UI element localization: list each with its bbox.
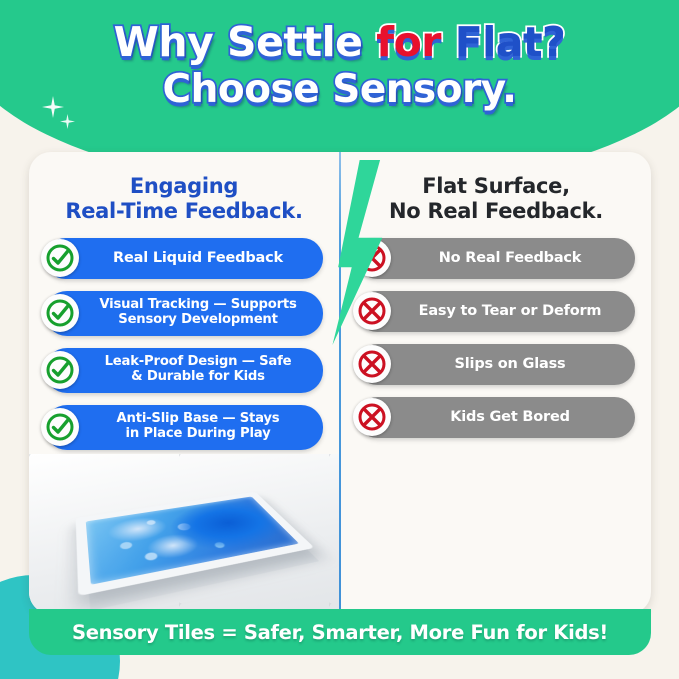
- list-item[interactable]: Real Liquid Feedback: [45, 238, 323, 279]
- list-item-line-1: Leak-Proof Design — Safe: [83, 355, 313, 370]
- list-item-line-1: Visual Tracking — Supports: [83, 298, 313, 313]
- left-panel: Engaging Real-Time Feedback. Real Liquid…: [29, 152, 339, 614]
- list-item[interactable]: Visual Tracking — Supports Sensory Devel…: [45, 291, 323, 336]
- check-circle-icon: [41, 408, 79, 446]
- check-circle-icon: [41, 351, 79, 389]
- list-item-line-1: Slips on Glass: [395, 356, 625, 372]
- bottom-banner-text: Sensory Tiles = Safer, Smarter, More Fun…: [72, 621, 608, 644]
- right-heading-line-1: Flat Surface,: [341, 174, 651, 199]
- x-circle-icon: [353, 398, 391, 436]
- list-item-line-1: Kids Get Bored: [395, 409, 625, 425]
- list-item-line-2: Sensory Development: [83, 313, 313, 328]
- list-item[interactable]: Slips on Glass: [357, 344, 635, 385]
- product-photo-sensory-tile: [29, 454, 339, 614]
- list-item[interactable]: Kids Get Bored: [357, 397, 635, 438]
- list-item-label: Leak-Proof Design — Safe & Durable for K…: [83, 355, 313, 385]
- list-item[interactable]: Easy to Tear or Deform: [357, 291, 635, 332]
- list-item-line-1: Anti-Slip Base — Stays: [83, 412, 313, 427]
- x-circle-icon: [353, 292, 391, 330]
- list-item-label: Real Liquid Feedback: [83, 250, 313, 266]
- headline-part-1: Why Settle: [114, 18, 377, 66]
- list-item-label: Kids Get Bored: [395, 409, 625, 425]
- list-item-label: Anti-Slip Base — Stays in Place During P…: [83, 412, 313, 442]
- comparison-card: Engaging Real-Time Feedback. Real Liquid…: [29, 152, 651, 614]
- headline-line-2: Choose Sensory.: [163, 67, 517, 112]
- right-heading-line-2: No Real Feedback.: [341, 199, 651, 224]
- list-item-line-1: Easy to Tear or Deform: [395, 303, 625, 319]
- left-heading-line-2: Real-Time Feedback.: [29, 199, 339, 224]
- right-panel-heading: Flat Surface, No Real Feedback.: [341, 152, 651, 224]
- list-item[interactable]: Anti-Slip Base — Stays in Place During P…: [45, 405, 323, 450]
- infographic-canvas: Why Settle for Flat? Choose Sensory. Eng…: [0, 0, 679, 679]
- list-item-line-2: in Place During Play: [83, 427, 313, 442]
- list-item-label: Slips on Glass: [395, 356, 625, 372]
- list-item-label: Easy to Tear or Deform: [395, 303, 625, 319]
- list-item-line-1: No Real Feedback: [395, 250, 625, 266]
- list-item-label: No Real Feedback: [395, 250, 625, 266]
- list-item-label: Visual Tracking — Supports Sensory Devel…: [83, 298, 313, 328]
- headline-part-3: Flat?: [455, 18, 566, 66]
- right-panel: Flat Surface, No Real Feedback. No Real …: [341, 152, 651, 614]
- x-circle-icon: [353, 345, 391, 383]
- page-title: Why Settle for Flat? Choose Sensory.: [0, 22, 679, 110]
- list-item-line-1: Real Liquid Feedback: [83, 250, 313, 266]
- check-circle-icon: [41, 239, 79, 277]
- bottom-banner: Sensory Tiles = Safer, Smarter, More Fun…: [29, 609, 651, 655]
- left-benefit-list: Real Liquid Feedback Visual Tracking — S…: [29, 238, 339, 450]
- check-circle-icon: [41, 294, 79, 332]
- right-drawback-list: No Real Feedback Easy to Tear or Deform: [341, 238, 651, 438]
- left-panel-heading: Engaging Real-Time Feedback.: [29, 152, 339, 224]
- list-item[interactable]: Leak-Proof Design — Safe & Durable for K…: [45, 348, 323, 393]
- list-item-line-2: & Durable for Kids: [83, 370, 313, 385]
- panel-divider: [339, 152, 341, 614]
- left-heading-line-1: Engaging: [29, 174, 339, 199]
- headline-part-2: for: [376, 18, 455, 66]
- list-item[interactable]: No Real Feedback: [357, 238, 635, 279]
